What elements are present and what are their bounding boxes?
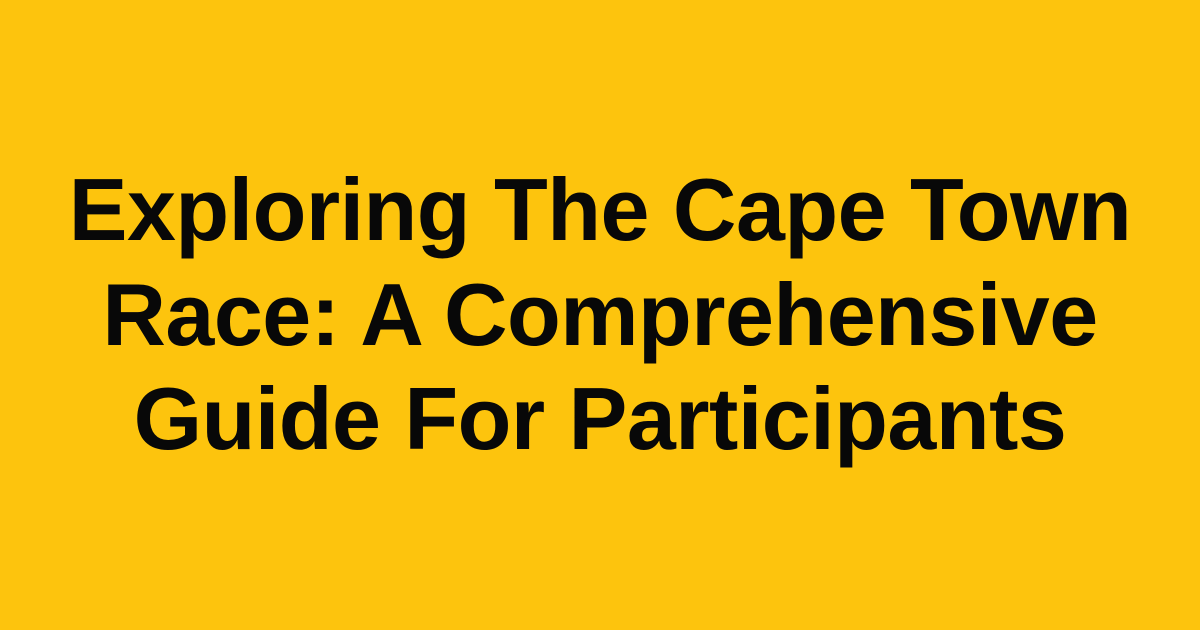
headline-block: Exploring The Cape Town Race: A Comprehe… xyxy=(60,158,1140,472)
share-card: Exploring The Cape Town Race: A Comprehe… xyxy=(0,0,1200,630)
page-title: Exploring The Cape Town Race: A Comprehe… xyxy=(60,158,1140,472)
